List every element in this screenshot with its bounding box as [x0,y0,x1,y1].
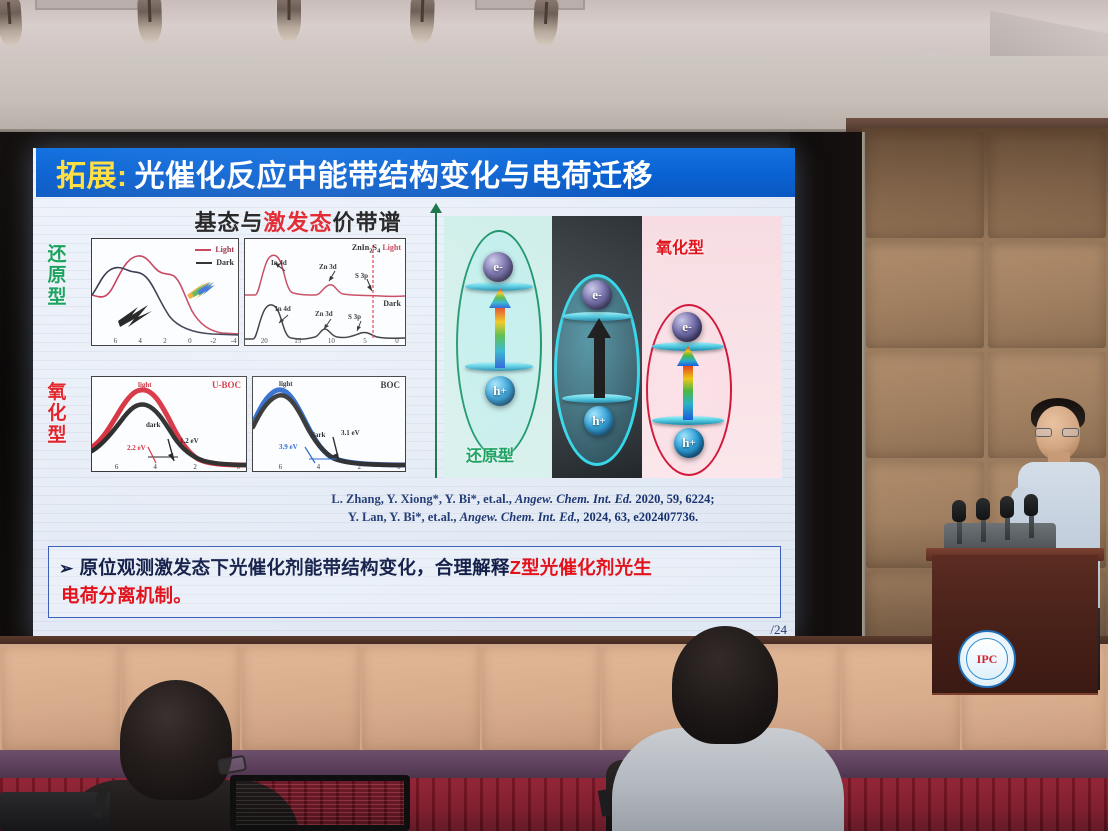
chart2-xaxis: 20 15 10 5 0 [245,333,405,345]
slide-title-bar: 拓展: 光催化反应中能带结构变化与电荷迁移 [36,148,795,197]
chart2-peak-in4d-dark: In 4d [275,305,291,313]
band-structure-diagram: e- h+ e- h+ [438,216,788,478]
hole-symbol-3: h [682,435,689,451]
citation-line-1: L. Zhang, Y. Xiong*, Y. Bi*, et.al., Ang… [288,491,758,509]
side-label-reduction: 还 原 型 [45,244,69,308]
legend-dark: Dark [196,258,234,267]
section-title-part1: 基态与 [194,210,263,235]
chart2-sub2: 4 [377,248,380,255]
chart4-tick-0: 6 [279,463,283,471]
uboc-dark-label: dark [146,421,160,429]
chart4-xaxis: 6 4 2 0 [253,459,405,471]
side-label-oxidation-c3: 型 [45,425,69,446]
chair-back [230,775,410,831]
energy-axis-line [435,210,437,478]
microphone-3 [1000,496,1014,540]
chart1-tick-3: 0 [188,337,192,345]
chart2-peak-s3p-dark: S 3p [348,313,361,321]
hole-symbol-2: h [592,413,599,429]
boc-title: BOC [380,380,400,390]
microphone-1 [952,500,966,544]
chart1-xaxis: 6 4 2 0 -2 -4 [92,333,238,345]
ceiling-spotlight-2 [137,0,163,44]
uboc-gap-light: 2.2 eV [127,444,146,452]
conclusion-text-dark: 原位观测激发态下光催化剂能带结构变化，合理解释 [79,557,509,578]
diagram-label-oxidation: 氧化型 [656,234,704,258]
boc-dark-label: dark [311,431,325,439]
chart2-tick-4: 0 [395,337,399,345]
chart-vb-spectrum-left: Light Dark 6 4 2 0 -2 -4 [91,238,239,346]
boc-gap-light: 3.9 eV [279,443,298,451]
chart3-xaxis: 6 4 2 0 [92,459,246,471]
chart4-tick-2: 2 [358,463,362,471]
audience-member-left-head [120,680,232,800]
citation-line-2: Y. Lan, Y. Bi*, et.al., Angew. Chem. Int… [288,509,758,527]
diagram-label-reduction: 还原型 [466,442,514,466]
side-label-reduction-c1: 还 [45,244,69,265]
section-title-highlight: 激发态 [263,210,332,235]
audience-member-right-head [672,626,778,744]
side-label-reduction-c3: 型 [45,287,69,308]
chart2-peak-zn3d-light: Zn 3d [319,263,337,271]
ceiling-vent-center [475,0,585,10]
boc-gap-dark: 3.1 eV [341,429,360,437]
uboc-gap-dark: 1.2 eV [180,437,199,445]
citation-2-detail: 2024, 63, e202407736. [583,510,698,524]
chart3-tick-0: 6 [115,463,119,471]
chart2-tick-0: 20 [261,337,268,345]
boc-light-label: light [279,380,293,388]
electron-carrier-3: e- [672,312,702,342]
legend-light: Light [195,245,234,254]
citation-1-authors: L. Zhang, Y. Xiong*, Y. Bi*, et.al., [331,492,511,506]
citation-2-journal: Angew. Chem. Int. Ed., [460,510,580,524]
black-arrow-2 [586,318,612,398]
hole-symbol-1: h [493,383,500,399]
conference-room-scene: 拓展: 光催化反应中能带结构变化与电荷迁移 还 原 型 氧 化 型 基态与激发态… [0,0,1108,831]
slide-title-prefix: 拓展: [56,151,128,195]
energy-axis-arrow-icon [430,203,442,213]
chart3-tick-2: 2 [193,463,197,471]
series-dark-line [92,268,239,335]
microphone-4 [1024,494,1038,538]
chart3-tick-1: 4 [153,463,157,471]
podium [932,555,1098,695]
electron-carrier-2: e- [582,280,612,310]
citation-1-journal: Angew. Chem. Int. Ed. [515,492,632,506]
citation-1-detail: 2020, 59, 6224; [635,492,714,506]
chart4-tick-3: 0 [397,463,401,471]
section-title: 基态与激发态价带谱 [153,205,443,237]
electron-charge-1: - [499,261,503,273]
rainbow-arrow-1 [488,288,512,368]
hole-carrier-3: h+ [674,428,704,458]
chart2-peak-zn3d-dark: Zn 3d [315,310,333,318]
conclusion-text-red-1: Z型光催化剂光生 [510,557,652,578]
speaker-glasses-icon [1035,428,1079,437]
projected-slide: 拓展: 光催化反应中能带结构变化与电荷迁移 还 原 型 氧 化 型 基态与激发态… [33,148,795,640]
section-title-part2: 价带谱 [333,210,402,235]
black-lightning-bolt-icon [118,305,152,327]
conclusion-line-2: 电荷分离机制。 [59,582,770,610]
microphone-2 [976,498,990,542]
hole-carrier-1: h+ [485,376,515,406]
legend-light-label: Light [215,245,234,254]
hole-charge-1: + [501,385,507,397]
uboc-light-label: light [138,381,152,389]
ceiling-vent-left [35,0,150,10]
chart2-peak-in4d-light: In 4d [271,259,287,267]
electron-charge-2: - [598,289,602,301]
conclusion-line-1: ➢原位观测激发态下光催化剂能带结构变化，合理解释Z型光催化剂光生 [59,554,770,582]
chart2-dark-label: Dark [383,299,401,308]
side-label-oxidation-c1: 氧 [45,382,69,403]
rainbow-arrow-3 [676,346,700,420]
chart-vb-spectrum-right: ZnIn2S4 Light Dark In 4d Zn 3d S 3p In 4… [244,238,406,346]
chart2-formula: ZnIn [352,243,369,252]
chart-u-boc: U-BOC light dark 2.2 eV 1.2 eV 6 4 2 0 [91,376,247,472]
light-curve [245,255,406,296]
legend-dark-label: Dark [216,258,234,267]
slide-title-text: 光催化反应中能带结构变化与电荷迁移 [135,151,654,195]
chart2-tick-3: 5 [363,337,367,345]
chart2-tick-1: 15 [294,337,301,345]
chart1-tick-1: 4 [138,337,142,345]
chart1-tick-4: -2 [210,337,216,345]
hole-charge-2: + [600,415,606,427]
chart3-tick-3: 0 [237,463,241,471]
rainbow-lightning-bolt-icon [187,281,215,299]
chart2-peak-s3p-light: S 3p [355,272,368,280]
podium-logo: IPC [958,630,1016,688]
chart2-title: ZnIn2S4 Light [352,243,401,255]
boc-dark-curve [253,395,406,465]
chart2-tick-2: 10 [328,337,335,345]
side-label-oxidation: 氧 化 型 [45,382,69,446]
hole-carrier-2: h+ [584,406,614,436]
bullet-arrow-icon: ➢ [59,556,73,582]
chart2-state: Light [382,243,401,252]
electron-carrier-1: e- [483,252,513,282]
side-label-reduction-c2: 原 [45,265,69,286]
uboc-title: U-BOC [212,380,241,390]
citation-2-authors: Y. Lan, Y. Bi*, et.al., [348,510,457,524]
side-label-oxidation-c2: 化 [45,403,69,424]
chart1-tick-2: 2 [163,337,167,345]
electron-charge-3: - [688,321,692,333]
conclusion-box: ➢原位观测激发态下光催化剂能带结构变化，合理解释Z型光催化剂光生 电荷分离机制。 [48,546,781,618]
podium-logo-text: IPC [966,638,1008,680]
chart1-tick-0: 6 [114,337,118,345]
chart-boc: BOC light dark 3.9 eV 3.1 eV 6 4 2 0 [252,376,406,472]
ceiling-spotlight-3 [277,0,301,42]
citation-block: L. Zhang, Y. Xiong*, Y. Bi*, et.al., Ang… [288,491,758,527]
projection-screen-border-right [790,132,862,644]
chart4-tick-1: 4 [317,463,321,471]
hole-charge-3: + [690,437,696,449]
chart1-tick-5: -4 [231,337,237,345]
